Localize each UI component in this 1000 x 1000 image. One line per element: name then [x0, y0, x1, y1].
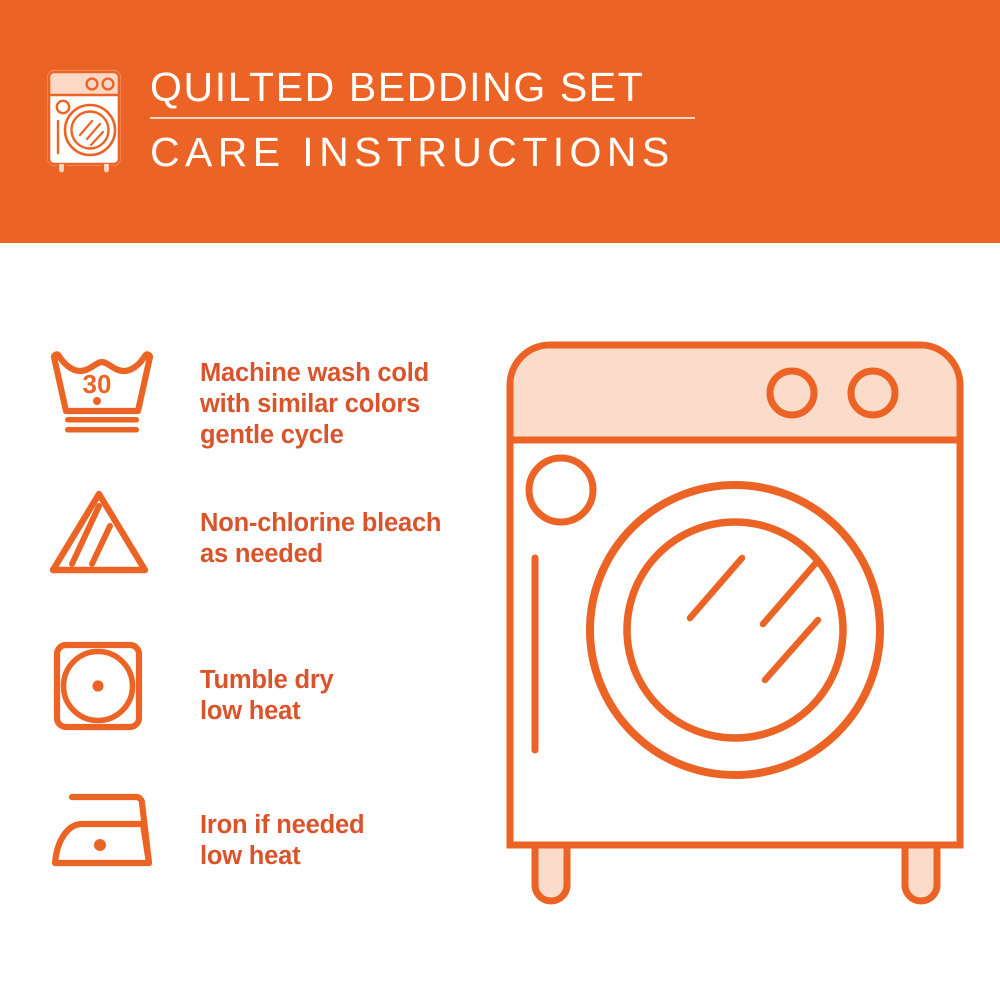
care-symbol-slot: 30 — [48, 345, 178, 440]
washing-machine-icon — [44, 69, 132, 175]
front-load-washing-machine-illustration — [495, 330, 975, 930]
header-banner: QUILTED BEDDING SET CARE INSTRUCTIONS — [0, 0, 1000, 243]
control-knob-left[interactable] — [770, 371, 814, 415]
care-item-tumble-dry: Tumble dry low heat — [48, 638, 488, 734]
care-item-label: Machine wash cold with similar colors ge… — [200, 358, 429, 451]
wash-tub-30-gentle-icon: 30 — [48, 345, 156, 440]
care-item-label: Iron if needed low heat — [200, 810, 364, 872]
care-instructions-list: 30 Machine wash cold with similar colors… — [0, 243, 500, 1000]
iron-low-heat-icon — [48, 785, 160, 873]
care-item-bleach: Non-chlorine bleach as needed — [48, 486, 488, 578]
page-title: QUILTED BEDDING SET — [150, 64, 695, 117]
care-symbol-slot — [48, 785, 178, 873]
machine-leg-left — [535, 845, 567, 901]
non-chlorine-bleach-triangle-icon — [48, 486, 156, 578]
control-knob-right[interactable] — [851, 371, 895, 415]
care-symbol-slot — [48, 486, 178, 578]
care-symbol-slot — [48, 638, 178, 734]
header-content: QUILTED BEDDING SET CARE INSTRUCTIONS — [44, 64, 695, 176]
care-item-label: Tumble dry low heat — [200, 665, 334, 727]
care-item-label: Non-chlorine bleach as needed — [200, 508, 441, 570]
machine-leg-right — [905, 845, 937, 901]
care-item-machine-wash: 30 Machine wash cold with similar colors… — [48, 345, 488, 451]
title-divider — [150, 117, 695, 119]
header-title-block: QUILTED BEDDING SET CARE INSTRUCTIONS — [150, 64, 695, 176]
page-subtitle: CARE INSTRUCTIONS — [150, 128, 695, 176]
wash-temperature-value: 30 — [83, 369, 112, 399]
care-item-iron: Iron if needed low heat — [48, 785, 488, 873]
tumble-dry-low-heat-icon — [48, 638, 156, 734]
